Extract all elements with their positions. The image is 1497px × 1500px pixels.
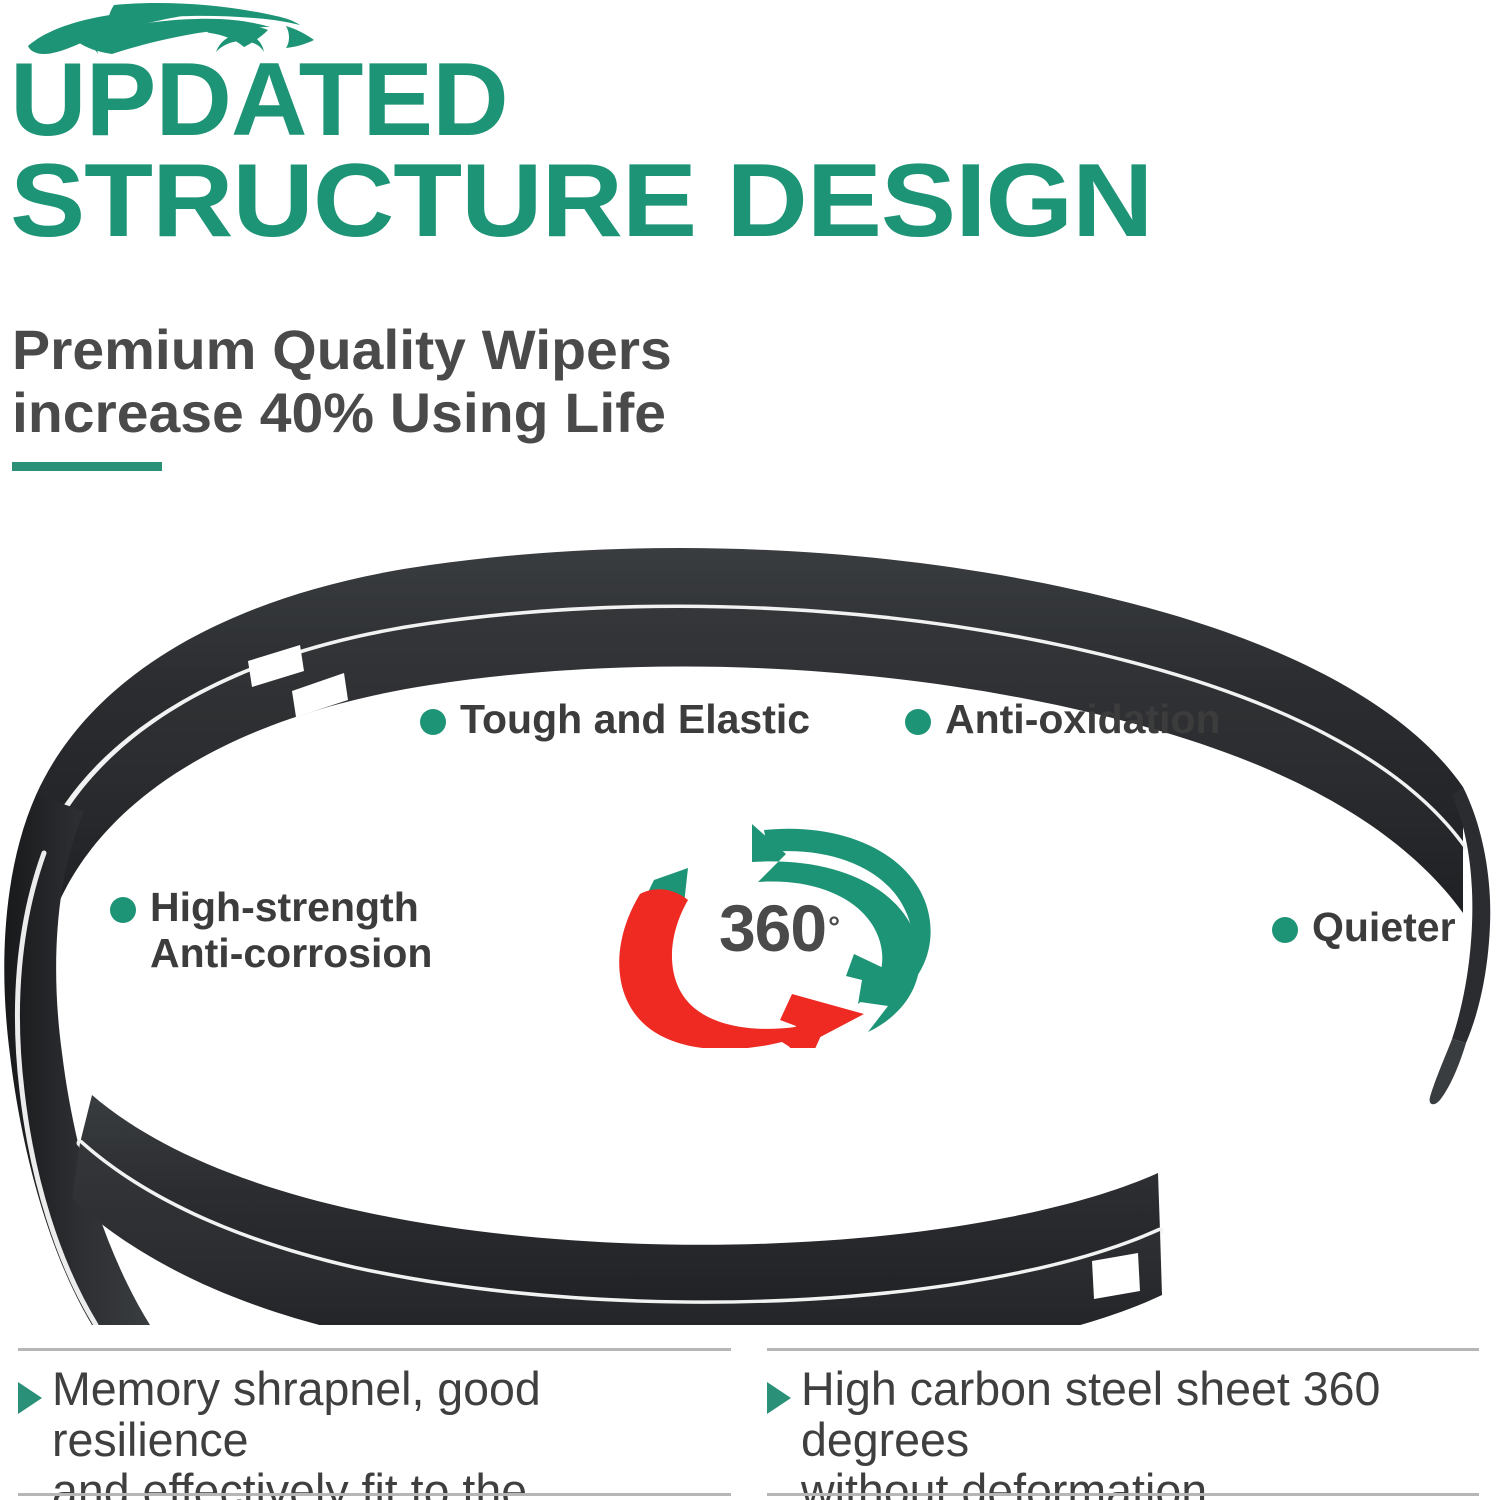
- rotation-360-badge: 360°: [596, 808, 956, 1048]
- callout-label: Anti-oxidation: [945, 697, 1221, 743]
- subtitle-line-2: increase 40% Using Life: [12, 381, 930, 444]
- caption-memory-shrapnel: Memory shrapnel, good resilience and eff…: [0, 1348, 749, 1500]
- bullet-dot-icon: [110, 897, 136, 923]
- triangle-right-icon: [767, 1382, 791, 1414]
- caption-row: Memory shrapnel, good resilience and eff…: [0, 1348, 1497, 1500]
- triangle-right-icon: [18, 1382, 42, 1414]
- bullet-dot-icon: [905, 709, 931, 735]
- subtitle: Premium Quality Wipers increase 40% Usin…: [12, 318, 930, 445]
- caption-high-carbon-steel: High carbon steel sheet 360 degrees with…: [749, 1348, 1497, 1500]
- divider-line-bottom: [767, 1493, 1480, 1496]
- bullet-dot-icon: [1272, 917, 1298, 943]
- caption-text: Memory shrapnel, good resilience and eff…: [52, 1364, 724, 1500]
- caption-text: High carbon steel sheet 360 degrees with…: [801, 1364, 1473, 1500]
- headline-line-2: STRUCTURE DESIGN: [10, 153, 1497, 250]
- divider-line-top: [767, 1348, 1480, 1351]
- headline-line-1: UPDATED: [10, 52, 1497, 149]
- divider-line-top: [18, 1348, 731, 1351]
- bullet-dot-icon: [420, 709, 446, 735]
- page-title: UPDATED STRUCTURE DESIGN: [10, 52, 1497, 249]
- divider-line-bottom: [18, 1493, 731, 1496]
- infographic-page: UPDATED STRUCTURE DESIGN Premium Quality…: [0, 0, 1497, 1500]
- callout-anti-oxidation: Anti-oxidation: [905, 697, 1221, 743]
- callout-label: Quieter: [1312, 905, 1456, 951]
- subtitle-line-1: Premium Quality Wipers: [12, 318, 930, 381]
- accent-underline-bar: [12, 462, 162, 471]
- rotation-arrows-icon: [596, 808, 956, 1048]
- callout-high-strength-anti-corrosion: High-strength Anti-corrosion: [110, 885, 432, 977]
- callout-quieter: Quieter: [1272, 905, 1456, 951]
- callout-label: High-strength Anti-corrosion: [150, 885, 432, 977]
- callout-label: Tough and Elastic: [460, 697, 810, 743]
- callout-tough-and-elastic: Tough and Elastic: [420, 697, 810, 743]
